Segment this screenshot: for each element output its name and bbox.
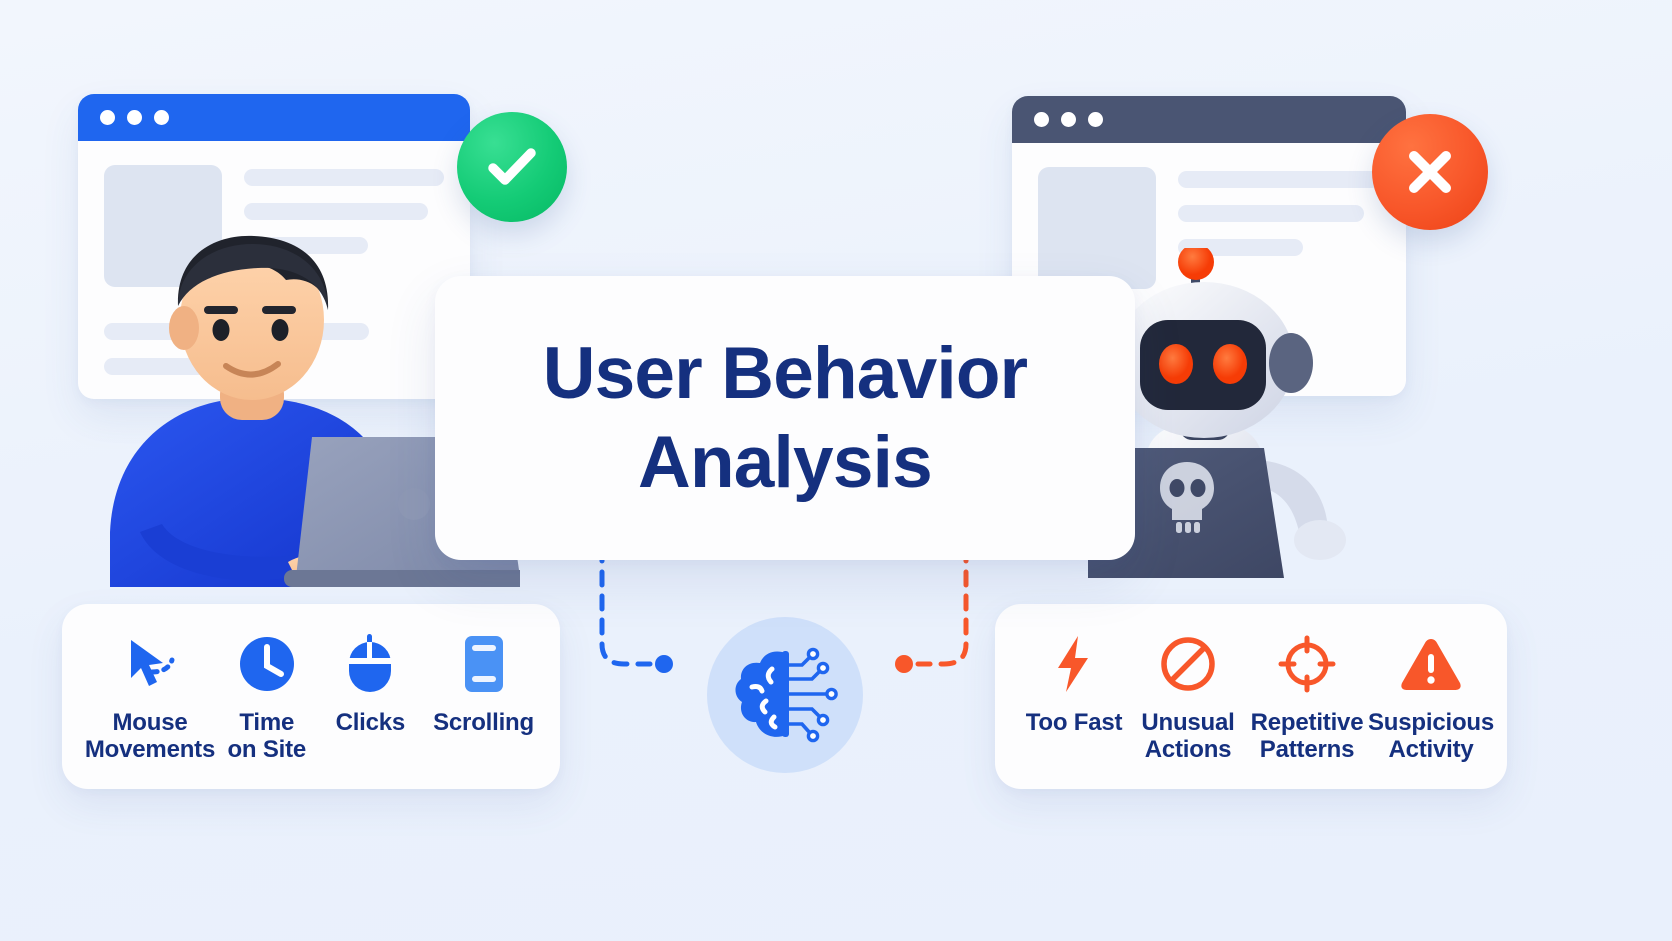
lightning-bolt-icon <box>1054 634 1094 694</box>
feature-label: Clicks <box>336 710 406 737</box>
feature-label: Time on Site <box>226 710 308 764</box>
feature-label: RepetitivePatterns <box>1251 710 1364 764</box>
window-dot-3-icon <box>1088 112 1103 127</box>
window-dot-1-icon <box>1034 112 1049 127</box>
prohibition-icon <box>1160 634 1216 694</box>
feature-too-fast[interactable]: Too Fast <box>1025 634 1123 737</box>
connector-right <box>880 548 980 678</box>
placeholder-line <box>244 169 444 186</box>
feature-suspicious-activity[interactable]: SuspiciousActivity <box>1377 634 1485 764</box>
bot-robot-illustration <box>1088 248 1438 588</box>
main-title-card: User Behavior Analysis <box>435 276 1135 560</box>
crosshair-icon <box>1278 634 1336 694</box>
robot-face-screen <box>1140 320 1266 410</box>
warning-triangle-icon <box>1400 634 1462 694</box>
page-title: User Behavior Analysis <box>543 329 1028 507</box>
mouse-device-icon <box>345 634 395 694</box>
ai-analysis-hub <box>707 617 863 773</box>
robot-antenna-light-icon <box>1178 248 1214 280</box>
legit-signals-card: MouseMovements Time on Site Clicks <box>62 604 560 789</box>
window-dot-3-icon <box>154 110 169 125</box>
ai-brain-circuit-icon <box>732 647 838 743</box>
scroll-icon <box>458 634 510 694</box>
legit-user-status-badge <box>457 112 567 222</box>
browser-titlebar-right <box>1012 96 1406 143</box>
robot-eye-right-icon <box>1213 344 1247 384</box>
robot-eye-left-icon <box>1159 344 1193 384</box>
connector-left <box>588 548 698 678</box>
feature-mouse-movements[interactable]: MouseMovements <box>96 634 204 764</box>
feature-label: UnusualActions <box>1141 710 1234 764</box>
connector-right-endpoint <box>895 655 913 673</box>
clock-icon <box>238 634 296 694</box>
browser-titlebar-left <box>78 94 470 141</box>
window-dot-1-icon <box>100 110 115 125</box>
check-icon <box>480 135 544 199</box>
feature-scrolling[interactable]: Scrolling <box>433 634 534 737</box>
feature-unusual-actions[interactable]: UnusualActions <box>1139 634 1237 764</box>
feature-repetitive-patterns[interactable]: RepetitivePatterns <box>1253 634 1361 764</box>
placeholder-line <box>1178 171 1380 188</box>
feature-label: Too Fast <box>1026 710 1123 737</box>
bot-signals-card: Too Fast UnusualActions RepetitivePatter… <box>995 604 1507 789</box>
page-title-line2: Analysis <box>638 422 932 503</box>
mouse-cursor-icon <box>122 634 178 694</box>
connector-left-endpoint <box>655 655 673 673</box>
close-x-icon <box>1399 141 1461 203</box>
placeholder-line <box>1178 205 1364 222</box>
window-dot-2-icon <box>1061 112 1076 127</box>
placeholder-line <box>244 203 428 220</box>
bot-blocked-status-badge <box>1372 114 1488 230</box>
window-dot-2-icon <box>127 110 142 125</box>
feature-label: SuspiciousActivity <box>1368 710 1494 764</box>
feature-label: MouseMovements <box>85 710 215 764</box>
page-title-line1: User Behavior <box>543 333 1028 414</box>
feature-clicks[interactable]: Clicks <box>330 634 412 737</box>
feature-label: Scrolling <box>433 710 534 737</box>
feature-time-on-site[interactable]: Time on Site <box>226 634 308 764</box>
